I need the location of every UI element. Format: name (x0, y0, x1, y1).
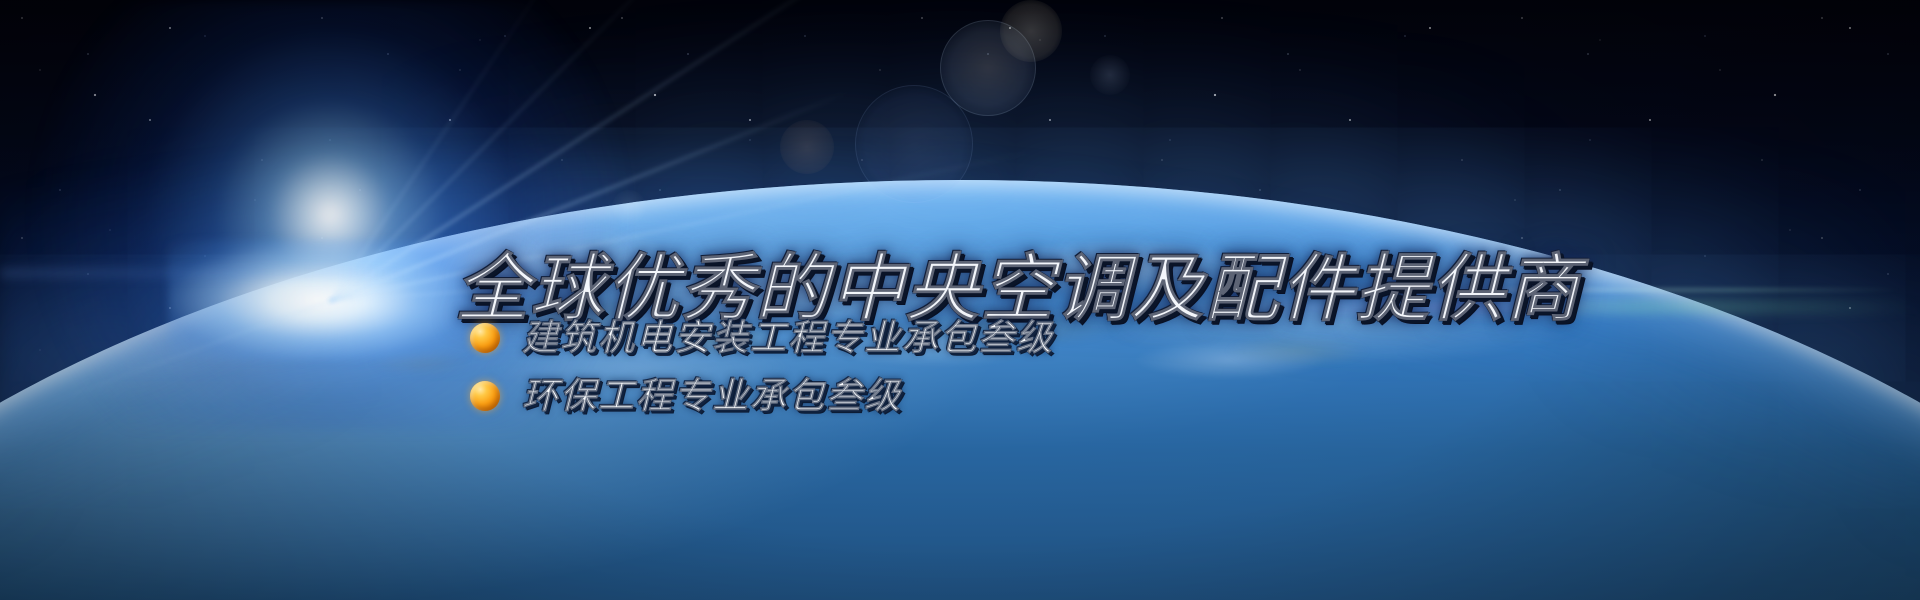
bullet-dot-icon (470, 381, 500, 411)
qualification-list: 建筑机电安装工程专业承包叁级 环保工程专业承包叁级 (470, 312, 1054, 428)
qualification-label: 建筑机电安装工程专业承包叁级 (522, 320, 1054, 356)
qualification-label: 环保工程专业承包叁级 (522, 378, 902, 414)
list-item: 建筑机电安装工程专业承包叁级 (470, 312, 1054, 364)
hero-banner: 全球优秀的中央空调及配件提供商 建筑机电安装工程专业承包叁级 环保工程专业承包叁… (0, 0, 1920, 600)
bullet-dot-icon (470, 323, 500, 353)
list-item: 环保工程专业承包叁级 (470, 370, 1054, 422)
banner-content: 全球优秀的中央空调及配件提供商 建筑机电安装工程专业承包叁级 环保工程专业承包叁… (0, 0, 1920, 600)
